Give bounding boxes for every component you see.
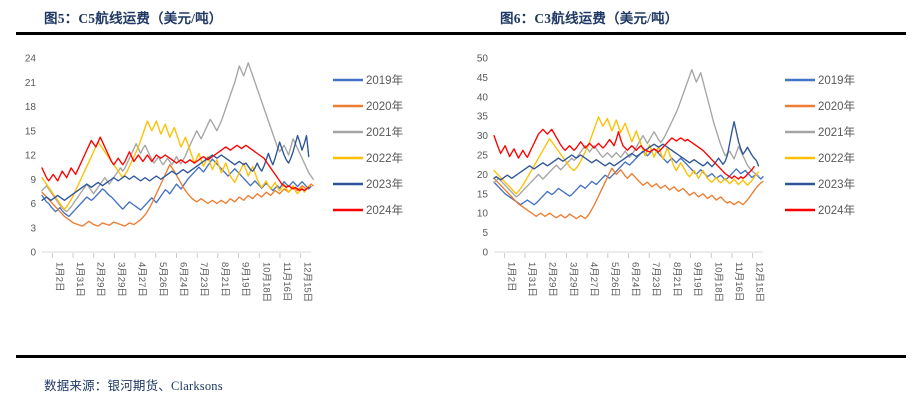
y-axis-tick-label: 0 — [482, 248, 488, 259]
legend-label-2020年[interactable]: 2020年 — [366, 99, 403, 113]
y-axis-tick-label: 15 — [477, 189, 489, 200]
x-axis-tick-label: 1月31日 — [526, 262, 537, 297]
legend-label-2019年[interactable]: 2019年 — [818, 73, 855, 87]
y-axis-tick-label: 9 — [30, 175, 36, 186]
legend-label-2024年[interactable]: 2024年 — [818, 203, 855, 217]
x-axis-tick-label: 2月29日 — [547, 262, 558, 297]
legend-label-2024年[interactable]: 2024年 — [366, 203, 403, 217]
y-axis-tick-label: 21 — [25, 78, 37, 89]
legend-label-2019年[interactable]: 2019年 — [366, 73, 403, 87]
x-axis-tick-label: 1月2日 — [53, 262, 64, 292]
x-axis-tick-label: 9月19日 — [692, 262, 703, 297]
x-axis-tick-label: 8月21日 — [671, 262, 682, 297]
y-axis-tick-label: 50 — [477, 54, 489, 65]
figure-6-title: 图6：C3航线运费（美元/吨） — [500, 7, 679, 27]
y-axis-tick-label: 12 — [25, 151, 37, 162]
x-axis-tick-label: 11月16日 — [281, 262, 292, 301]
x-axis-tick-label: 6月24日 — [630, 262, 641, 297]
x-axis-tick-label: 1月31日 — [74, 262, 85, 297]
chart-c3-svg: 051015202530354045501月2日1月31日2月29日3月29日4… — [452, 44, 913, 344]
y-axis-tick-label: 0 — [30, 248, 36, 259]
figure-titles: 图5：C5航线运费（美元/吨） 图6：C3航线运费（美元/吨） — [0, 0, 922, 30]
x-axis-tick-label: 4月27日 — [136, 262, 147, 297]
legend-label-2022年[interactable]: 2022年 — [366, 151, 403, 165]
x-axis-tick-label: 3月29日 — [567, 262, 578, 297]
y-axis-tick-label: 10 — [477, 209, 489, 220]
x-axis-tick-label: 10月18日 — [260, 262, 271, 302]
y-axis-tick-label: 3 — [30, 223, 36, 234]
y-axis-tick-label: 15 — [25, 126, 37, 137]
legend-label-2023年[interactable]: 2023年 — [818, 177, 855, 191]
x-axis-tick-label: 10月18日 — [712, 262, 723, 302]
series-line-2023年 — [494, 122, 759, 180]
x-axis-tick-label: 5月26日 — [157, 262, 168, 297]
y-axis-tick-label: 25 — [477, 151, 489, 162]
figure-5-title: 图5：C5航线运费（美元/吨） — [44, 7, 223, 27]
x-axis-tick-label: 11月16日 — [733, 262, 744, 301]
x-axis-tick-label: 8月21日 — [219, 262, 230, 297]
series-line-2024年 — [494, 129, 754, 179]
y-axis-tick-label: 20 — [477, 170, 489, 181]
legend-label-2021年[interactable]: 2021年 — [366, 125, 403, 139]
y-axis-tick-label: 40 — [477, 92, 489, 103]
legend-label-2022年[interactable]: 2022年 — [818, 151, 855, 165]
chart-c3-panel: 051015202530354045501月2日1月31日2月29日3月29日4… — [452, 44, 913, 344]
data-source-note: 数据来源：银河期货、Clarksons — [44, 375, 223, 394]
x-axis-tick-label: 12月15日 — [302, 262, 313, 302]
legend-label-2021年[interactable]: 2021年 — [818, 125, 855, 139]
chart-c5-panel: 036912151821241月2日1月31日2月29日3月29日4月27日5月… — [0, 44, 461, 344]
y-axis-tick-label: 45 — [477, 73, 489, 84]
legend-label-2020年[interactable]: 2020年 — [818, 99, 855, 113]
header-divider — [16, 32, 906, 35]
series-line-2024年 — [42, 137, 309, 190]
x-axis-tick-label: 9月19日 — [240, 262, 251, 297]
footer-divider — [16, 355, 906, 358]
x-axis-tick-label: 7月23日 — [198, 262, 209, 297]
y-axis-tick-label: 30 — [477, 131, 489, 142]
y-axis-tick-label: 5 — [482, 228, 488, 239]
x-axis-tick-label: 7月23日 — [650, 262, 661, 297]
x-axis-tick-label: 2月29日 — [95, 262, 106, 297]
x-axis-tick-label: 1月2日 — [505, 262, 516, 292]
y-axis-tick-label: 35 — [477, 112, 489, 123]
report-page: 图5：C5航线运费（美元/吨） 图6：C3航线运费（美元/吨） 03691215… — [0, 0, 922, 401]
chart-c5-svg: 036912151821241月2日1月31日2月29日3月29日4月27日5月… — [0, 44, 461, 344]
y-axis-tick-label: 24 — [25, 54, 37, 65]
series-line-2022年 — [494, 117, 759, 194]
legend-label-2023年[interactable]: 2023年 — [366, 177, 403, 191]
y-axis-tick-label: 6 — [30, 199, 36, 210]
x-axis-tick-label: 12月15日 — [754, 262, 765, 302]
series-line-2020年 — [494, 168, 763, 218]
y-axis-tick-label: 18 — [25, 102, 37, 113]
x-axis-tick-label: 6月24日 — [178, 262, 189, 297]
x-axis-tick-label: 3月29日 — [115, 262, 126, 297]
x-axis-tick-label: 5月26日 — [609, 262, 620, 297]
x-axis-tick-label: 4月27日 — [588, 262, 599, 297]
